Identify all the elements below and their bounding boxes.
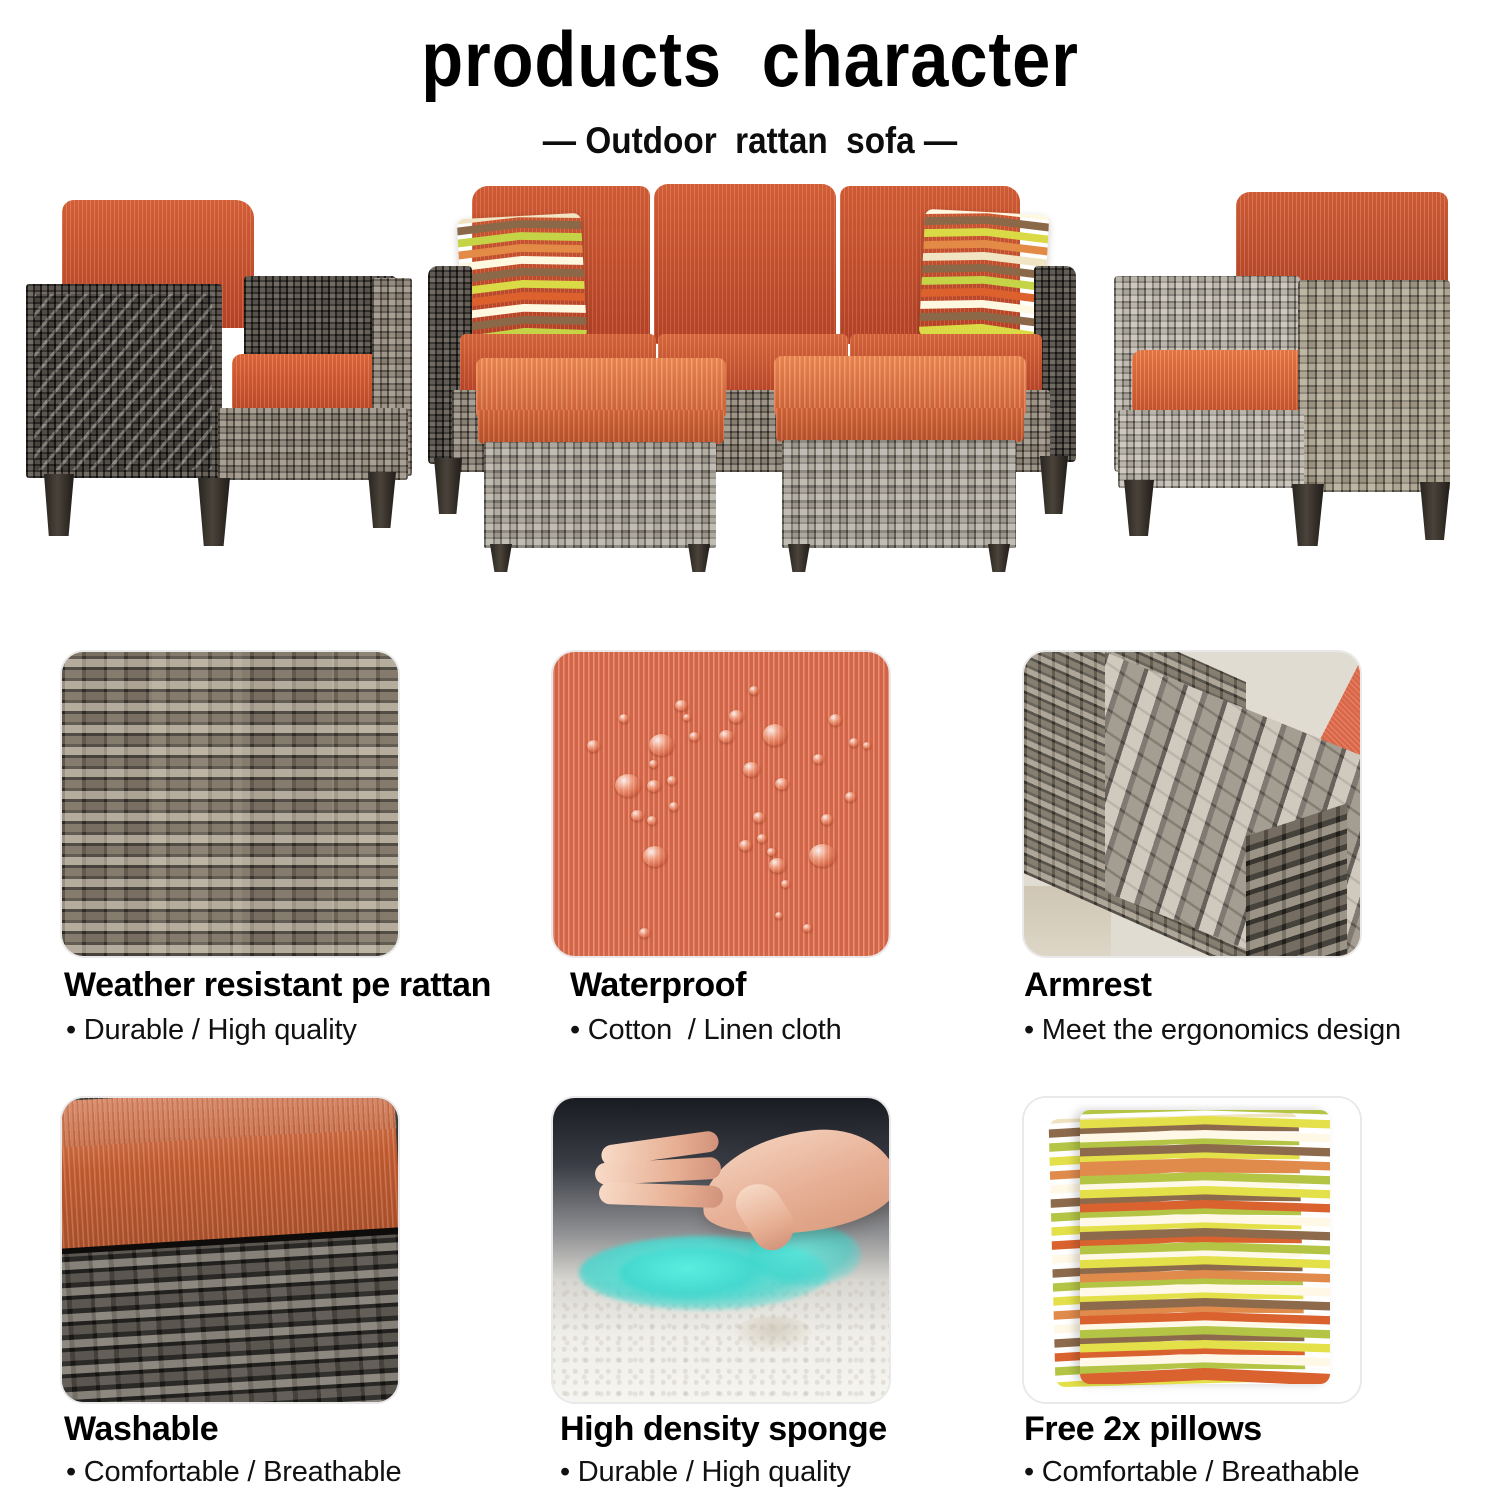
hand-finger-3 <box>599 1182 724 1208</box>
feature-title-weather-resistant-pe-rattan: Weather resistant pe rattan <box>64 968 491 1002</box>
dark-rattan-base-weave <box>62 1233 398 1402</box>
feature-bullet-washable: • Comfortable / Breathable <box>66 1458 401 1487</box>
water-droplet <box>803 924 812 932</box>
water-droplet <box>683 714 691 721</box>
feature-image-armrest <box>1024 652 1360 956</box>
water-droplet <box>587 740 600 752</box>
water-droplet <box>729 710 744 723</box>
throw-pillow-left <box>457 213 587 345</box>
sofa-back-cushion-2 <box>654 184 836 344</box>
throw-pillow-right <box>919 209 1050 343</box>
water-droplet <box>739 840 752 851</box>
water-droplet <box>643 846 667 867</box>
ottoman-cushion-side <box>478 410 724 444</box>
water-droplet <box>845 792 856 802</box>
water-droplet <box>775 912 783 919</box>
foam-impression-teal-mid <box>619 1248 769 1300</box>
water-droplet <box>753 812 765 823</box>
water-droplet <box>743 762 760 777</box>
armrest-closeup-image <box>1024 652 1360 956</box>
ottoman-leg-left <box>788 544 810 572</box>
feature-title-free-2x-pillows: Free 2x pillows <box>1024 1412 1262 1446</box>
water-droplet <box>689 732 700 741</box>
feature-bullet-waterproof: • Cotton / Linen cloth <box>570 1016 842 1045</box>
ottoman-left <box>476 358 732 568</box>
diagonal-accent-weave <box>34 294 212 470</box>
water-droplet <box>667 776 677 785</box>
water-droplet <box>675 700 688 711</box>
sofa-leg-right <box>1040 456 1068 514</box>
water-droplet <box>757 834 767 843</box>
ottoman-right <box>774 356 1034 568</box>
water-droplet <box>719 730 734 743</box>
feature-title-waterproof: Waterproof <box>570 968 746 1002</box>
feature-image-washable <box>62 1098 398 1402</box>
water-droplet <box>631 810 644 821</box>
feature-title-armrest: Armrest <box>1024 968 1152 1002</box>
water-droplet <box>775 778 789 790</box>
pillow-front <box>1080 1110 1330 1384</box>
leg-back-right <box>368 472 396 528</box>
ottoman-leg-left <box>490 544 512 572</box>
chevron-pillows-image <box>1024 1098 1360 1402</box>
ottoman-leg-right <box>988 544 1010 572</box>
foam-dimple-shadow <box>733 1316 813 1352</box>
feature-title-high-density-sponge: High density sponge <box>560 1412 887 1446</box>
water-droplet <box>649 760 658 768</box>
hero-armchair-right <box>1090 184 1480 576</box>
feature-title-washable: Washable <box>64 1412 218 1446</box>
right-arm-block <box>1298 280 1450 492</box>
water-droplet <box>863 742 871 749</box>
water-droplet <box>781 880 790 888</box>
water-droplet <box>829 714 842 726</box>
washable-cushion-image <box>62 1098 398 1402</box>
waterproof-fabric-image <box>553 652 889 956</box>
memory-foam-image <box>553 1098 889 1402</box>
water-droplet <box>649 734 674 756</box>
hero-product-photo <box>0 178 1500 598</box>
feature-image-free-2x-pillows <box>1024 1098 1360 1402</box>
leg-front-right <box>198 478 230 546</box>
page-subtitle: — Outdoor rattan sofa — <box>75 98 1425 159</box>
sofa-leg-left <box>434 458 462 514</box>
water-droplet <box>849 738 859 747</box>
hero-armchair-left <box>20 186 420 576</box>
leg-front-left <box>44 474 74 536</box>
seat-cushion <box>1132 350 1308 416</box>
feature-image-high-density-sponge <box>553 1098 889 1402</box>
feature-bullet-high-density-sponge: • Durable / High quality <box>560 1458 851 1487</box>
infographic-header: products character — Outdoor rattan sofa… <box>0 0 1500 159</box>
water-droplet <box>749 686 759 695</box>
feature-bullet-free-2x-pillows: • Comfortable / Breathable <box>1024 1458 1359 1487</box>
water-droplet <box>669 802 679 811</box>
front-apron-weave <box>1118 410 1304 488</box>
water-droplet <box>767 848 776 856</box>
leg-front-left <box>1124 480 1154 536</box>
leg-front-right <box>1292 484 1324 546</box>
water-droplet <box>647 780 661 792</box>
feature-image-waterproof <box>553 652 889 956</box>
page-title: products character <box>90 0 1410 98</box>
water-droplet <box>813 754 824 764</box>
feature-bullet-armrest: • Meet the ergonomics design <box>1024 1016 1401 1045</box>
rattan-texture-image <box>62 652 398 956</box>
water-droplet <box>769 858 786 873</box>
water-droplet <box>763 724 787 746</box>
water-droplet <box>619 714 629 723</box>
leg-back-right <box>1420 482 1450 540</box>
ottoman-cushion-side <box>776 408 1024 442</box>
feature-bullet-weather-resistant-pe-rattan: • Durable / High quality <box>66 1016 357 1045</box>
ottoman-base <box>484 442 716 548</box>
water-droplet <box>809 844 836 867</box>
front-apron-weave <box>218 408 408 480</box>
water-droplet <box>639 928 650 938</box>
ottoman-base <box>782 440 1016 548</box>
ottoman-leg-right <box>688 544 710 572</box>
water-droplet <box>647 816 657 825</box>
hero-sofa-center <box>428 178 1076 578</box>
water-droplet <box>615 774 641 797</box>
water-droplet <box>821 814 833 825</box>
feature-image-weather-resistant-pe-rattan <box>62 652 398 956</box>
